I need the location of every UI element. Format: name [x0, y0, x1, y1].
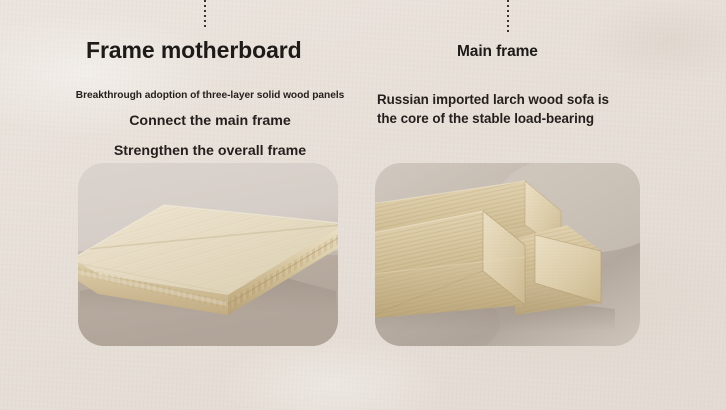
left-column-heading: Frame motherboard — [86, 36, 302, 64]
larch-beams-photo: Russian larch timber beams — [375, 163, 640, 346]
left-column-subtext-line-2: Connect the main frame — [0, 112, 420, 131]
right-column-subtext: Russian imported larch wood sofa isthe c… — [377, 91, 677, 128]
plywood-panel-photo-label: three-layer solid wood plywood panel — [78, 163, 79, 164]
larch-beams-photo-label: Russian larch timber beams — [375, 163, 376, 164]
right-column-subtext-line-2: the core of the stable load-bearing — [377, 111, 594, 126]
left-column-subtext-line-3: Strengthen the overall frame — [0, 142, 420, 161]
dotted-connector-left — [204, 0, 206, 29]
plywood-panel-photo: three-layer solid wood plywood panel — [78, 163, 338, 346]
left-column-subtext-line-1: Breakthrough adoption of three-layer sol… — [0, 89, 420, 103]
right-column-heading: Main frame — [457, 42, 538, 62]
right-column-subtext-line-1: Russian imported larch wood sofa is — [377, 92, 609, 107]
dotted-connector-right — [507, 0, 509, 32]
poster-canvas: Frame motherboard Breakthrough adoption … — [0, 0, 726, 410]
